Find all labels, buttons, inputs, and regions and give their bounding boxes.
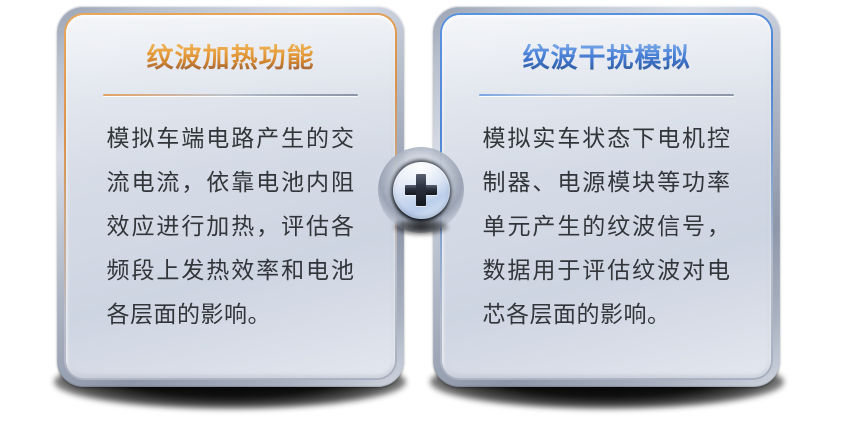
card-body-ripple-heating: 模拟车端电路产生的交流电流，依靠电池内阻效应进行加热，评估各频段上发热效率和电池… [107, 116, 355, 336]
page-root: 纹波加热功能 模拟车端电路产生的交流电流，依靠电池内阻效应进行加热，评估各频段上… [0, 0, 842, 435]
card-title-ripple-interference: 纹波干扰模拟 [523, 44, 691, 74]
card-body-ripple-interference: 模拟实车状态下电机控制器、电源模块等功率单元产生的纹波信号，数据用于评估纹波对电… [483, 116, 731, 336]
card-inner-surface: 纹波加热功能 模拟车端电路产生的交流电流，依靠电池内阻效应进行加热，评估各频段上… [64, 13, 397, 380]
card-title-ripple-heating: 纹波加热功能 [147, 44, 315, 74]
plus-icon [405, 174, 437, 206]
plus-icon-vertical-bar [416, 174, 426, 206]
card-divider-right [479, 94, 734, 96]
plus-button[interactable] [378, 147, 464, 233]
card-divider-left [103, 94, 358, 96]
card-inner-surface: 纹波干扰模拟 模拟实车状态下电机控制器、电源模块等功率单元产生的纹波信号，数据用… [440, 13, 773, 380]
plus-button-knob [393, 162, 450, 219]
card-ripple-heating[interactable]: 纹波加热功能 模拟车端电路产生的交流电流，依靠电池内阻效应进行加热，评估各频段上… [57, 6, 404, 387]
card-ripple-interference[interactable]: 纹波干扰模拟 模拟实车状态下电机控制器、电源模块等功率单元产生的纹波信号，数据用… [433, 6, 780, 387]
